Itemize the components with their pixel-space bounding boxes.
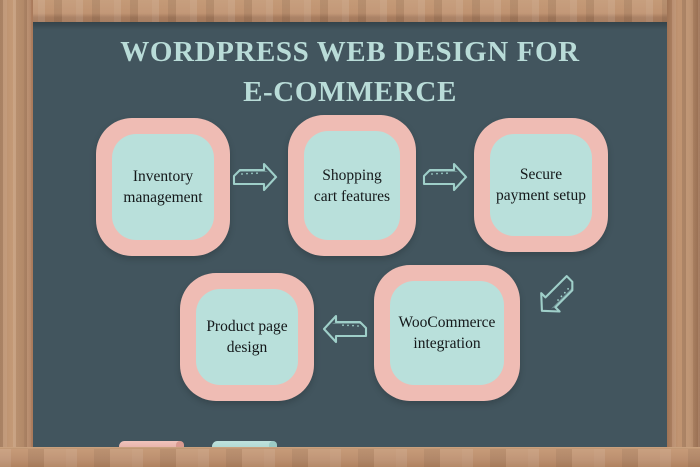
arrow-left-icon [318,312,372,359]
flow-step-product-page-design[interactable]: Product page design [180,273,314,401]
frame-left [0,0,33,467]
page-title: WordPress Web Design for E-Commerce [60,32,640,112]
arrow-down-left-icon [518,262,580,325]
frame-ledge [0,449,700,467]
flow-step-label: Secure payment setup [490,134,592,236]
arrow-right-icon [228,160,280,207]
title-line-1: WordPress Web Design for [60,32,640,72]
board-inner-shadow [33,22,667,30]
flow-step-label: WooCommerce integration [390,281,504,385]
flow-step-shopping-cart-features[interactable]: Shopping cart features [288,115,416,256]
flow-step-woocommerce-integration[interactable]: WooCommerce integration [374,265,520,401]
arrow-right-icon [418,160,470,207]
title-line-2: E-Commerce [60,72,640,112]
frame-top [0,0,700,22]
flow-step-inventory-management[interactable]: Inventory management [96,118,230,256]
flow-step-label: Product page design [196,289,298,385]
flow-step-label: Shopping cart features [304,131,400,240]
flow-step-label: Inventory management [112,134,214,240]
chalkboard-infographic: WordPress Web Design for E-Commerce Inve… [0,0,700,467]
flow-step-secure-payment-setup[interactable]: Secure payment setup [474,118,608,252]
frame-right [667,0,700,467]
